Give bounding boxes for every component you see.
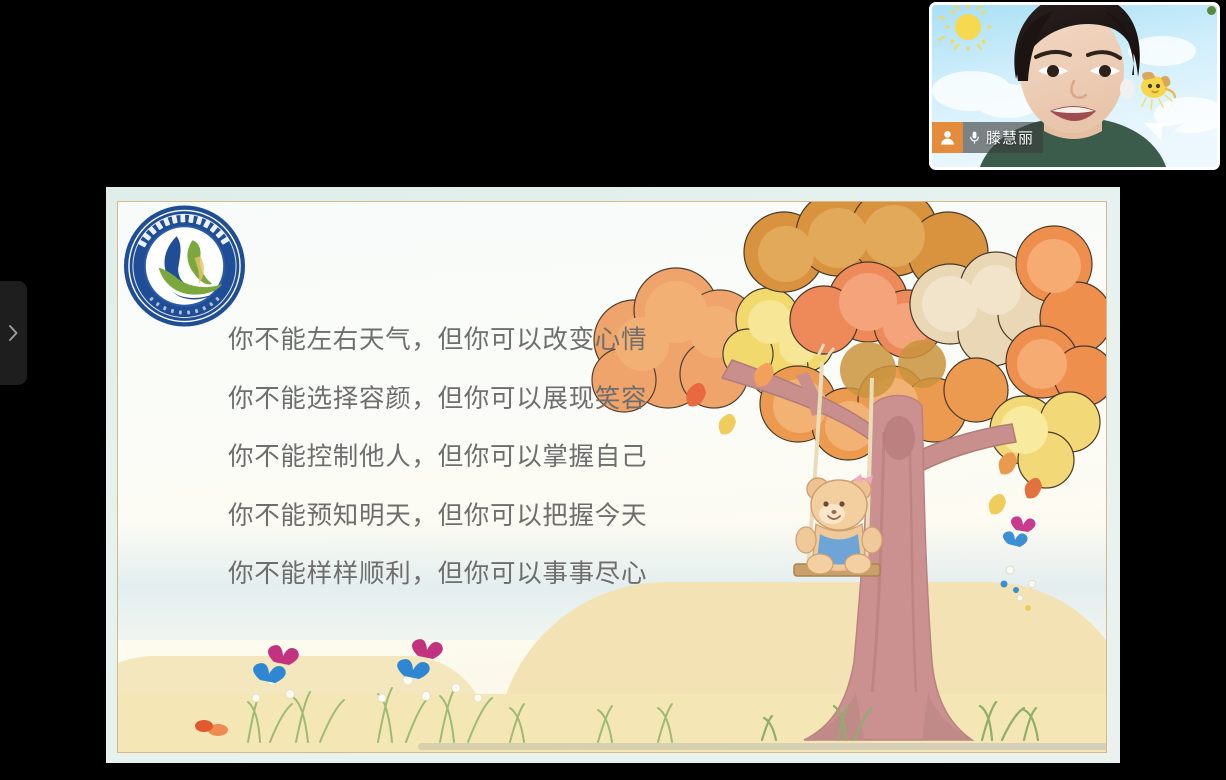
slide-outer-frame: 你不能左右天气，但你可以改变心情 你不能选择容颜，但你可以展现笑容 你不能控制他… xyxy=(106,187,1120,763)
participant-video-tile[interactable]: 滕慧丽 xyxy=(929,2,1220,170)
slide-verse-list: 你不能左右天气，但你可以改变心情 你不能选择容颜，但你可以展现笑容 你不能控制他… xyxy=(228,328,788,621)
expand-panel-button[interactable] xyxy=(0,281,27,385)
verse-line-4: 你不能预知明天，但你可以把握今天 xyxy=(228,504,788,530)
participant-name-badge: 滕慧丽 xyxy=(932,122,1043,153)
active-speaker-dot xyxy=(1207,6,1216,15)
shared-screen-region[interactable]: 你不能左右天气，但你可以改变心情 你不能选择容颜，但你可以展现笑容 你不能控制他… xyxy=(106,187,1120,763)
person-icon xyxy=(932,122,963,153)
verse-line-2: 你不能选择容颜，但你可以展现笑容 xyxy=(228,387,788,413)
slide-content: 你不能左右天气，但你可以改变心情 你不能选择容颜，但你可以展现笑容 你不能控制他… xyxy=(117,201,1107,753)
butterfly-icon xyxy=(253,639,443,683)
butterfly-icon xyxy=(1003,516,1036,547)
microphone-icon xyxy=(967,128,982,147)
chevron-right-icon xyxy=(7,323,20,343)
school-emblem-icon xyxy=(121,202,248,330)
verse-line-5: 你不能样样顺利，但你可以事事尽心 xyxy=(228,562,788,588)
participant-name-text: 滕慧丽 xyxy=(986,127,1034,148)
verse-line-3: 你不能控制他人，但你可以掌握自己 xyxy=(228,445,788,471)
person-glyph xyxy=(938,128,957,147)
name-pill: 滕慧丽 xyxy=(963,122,1043,153)
app-stage: 你不能左右天气，但你可以改变心情 你不能选择容颜，但你可以展现笑容 你不能控制他… xyxy=(0,0,1226,780)
verse-line-1: 你不能左右天气，但你可以改变心情 xyxy=(228,328,788,354)
